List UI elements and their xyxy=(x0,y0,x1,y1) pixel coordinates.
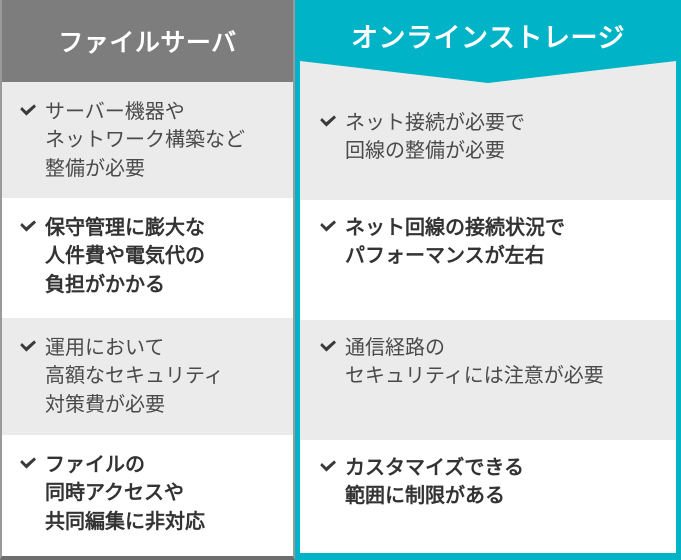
column-header-online-storage: オンラインストレージ xyxy=(300,0,676,95)
list-item: 運用において 高額なセキュリティ 対策費が必要 xyxy=(2,318,293,435)
check-mark-icon xyxy=(318,457,338,477)
column-header-file-server: ファイルサーバ xyxy=(2,0,293,82)
list-item-text: ネット接続が必要で 回線の整備が必要 xyxy=(345,109,525,166)
item-list-file-server: サーバー機器や ネットワーク構築など 整備が必要 保守管理に膨大な 人件費や電気… xyxy=(2,82,293,556)
comparison-table: ファイルサーバ サーバー機器や ネットワーク構築など 整備が必要 保守管理に膨大… xyxy=(0,0,681,560)
item-list-online-storage: ネット接続が必要で 回線の整備が必要 ネット回線の接続状況で パフォーマンスが左… xyxy=(300,95,676,553)
check-mark-icon xyxy=(318,337,338,357)
list-item: ネット接続が必要で 回線の整備が必要 xyxy=(300,95,676,200)
list-item-text: ファイルの 同時アクセスや 共同編集に非対応 xyxy=(45,451,205,536)
list-item-text: 保守管理に膨大な 人件費や電気代の 負担がかかる xyxy=(45,214,205,299)
check-mark-icon xyxy=(18,337,38,357)
list-item-text: 通信経路の セキュリティには注意が必要 xyxy=(345,334,604,391)
list-item: 保守管理に膨大な 人件費や電気代の 負担がかかる xyxy=(2,198,293,318)
check-mark-icon xyxy=(318,112,338,132)
list-item: ファイルの 同時アクセスや 共同編集に非対応 xyxy=(2,435,293,556)
list-item-text: サーバー機器や ネットワーク構築など 整備が必要 xyxy=(45,98,245,183)
column-header-online-storage-label: オンラインストレージ xyxy=(351,16,625,55)
list-item: サーバー機器や ネットワーク構築など 整備が必要 xyxy=(2,82,293,198)
list-item-text: 運用において 高額なセキュリティ 対策費が必要 xyxy=(45,334,224,419)
list-item: ネット回線の接続状況で パフォーマンスが左右 xyxy=(300,200,676,320)
check-mark-icon xyxy=(18,101,38,121)
list-item-text: カスタマイズできる 範囲に制限がある xyxy=(345,454,524,511)
list-item-text: ネット回線の接続状況で パフォーマンスが左右 xyxy=(345,214,565,271)
check-mark-icon xyxy=(18,217,38,237)
list-item: 通信経路の セキュリティには注意が必要 xyxy=(300,320,676,440)
check-mark-icon xyxy=(18,454,38,474)
column-online-storage: オンラインストレージ ネット接続が必要で 回線の整備が必要 ネット回線の接 xyxy=(295,0,681,560)
check-mark-icon xyxy=(318,217,338,237)
column-file-server: ファイルサーバ サーバー機器や ネットワーク構築など 整備が必要 保守管理に膨大… xyxy=(0,0,295,560)
header-notch-shape xyxy=(300,61,676,95)
list-item: カスタマイズできる 範囲に制限がある xyxy=(300,440,676,553)
